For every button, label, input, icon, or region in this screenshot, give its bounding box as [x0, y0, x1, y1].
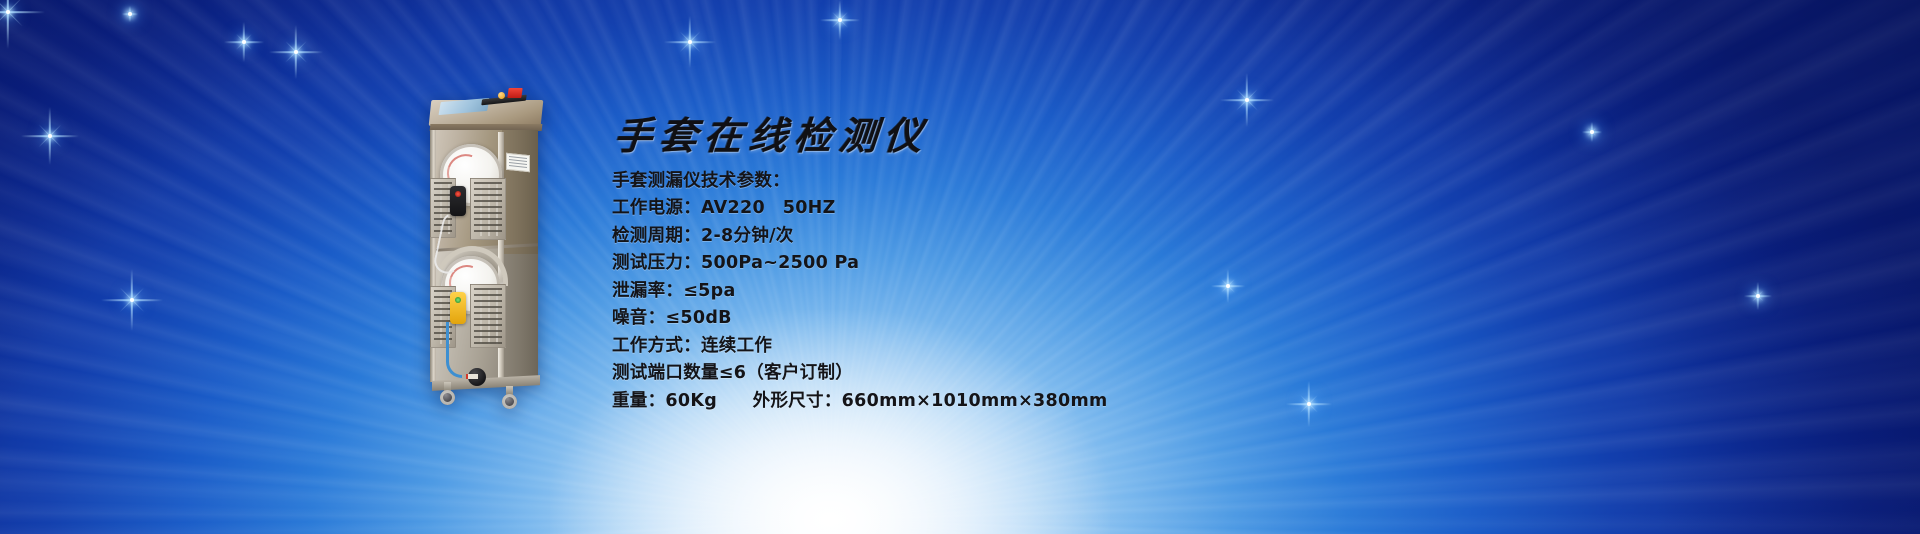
spec-item-work-mode: 工作方式：连续工作 [612, 333, 1232, 361]
machine-knob-tag [466, 374, 478, 379]
spec-item-ports: 测试端口数量≤6（客户订制） [612, 360, 1232, 388]
machine-lower-side [502, 254, 538, 380]
machine-blue-cable [446, 322, 462, 378]
spec-heading: 手套测漏仪技术参数： [612, 168, 1232, 196]
machine-id-label [506, 153, 530, 173]
handle-indicator-light [455, 297, 461, 303]
banner-text-block: 手套在线检测仪 手套测漏仪技术参数： 工作电源：AV220 50HZ 检测周期：… [612, 118, 1232, 415]
product-image [424, 86, 556, 400]
machine-vent-panel [470, 178, 506, 240]
machine-red-button [507, 88, 522, 98]
machine-illustration [424, 86, 556, 400]
spec-list: 手套测漏仪技术参数： 工作电源：AV220 50HZ 检测周期：2-8分钟/次 … [612, 168, 1232, 416]
handle-indicator-light [455, 191, 461, 197]
spec-item-cycle: 检测周期：2-8分钟/次 [612, 223, 1232, 251]
spec-item-weight-dim: 重量：60Kg 外形尺寸：660mm×1010mm×380mm [612, 388, 1232, 416]
page-title: 手套在线检测仪 [610, 118, 1233, 158]
machine-vent-panel [470, 284, 506, 348]
spec-item-noise: 噪音：≤50dB [612, 305, 1232, 333]
spec-item-pressure: 测试压力：500Pa~2500 Pa [612, 250, 1232, 278]
machine-upper-side [502, 130, 538, 254]
machine-knob [468, 368, 486, 386]
spec-item-power: 工作电源：AV220 50HZ [612, 195, 1232, 223]
spec-item-leak-rate: 泄漏率：≤5pa [612, 278, 1232, 306]
product-banner: 手套在线检测仪 手套测漏仪技术参数： 工作电源：AV220 50HZ 检测周期：… [0, 0, 1920, 534]
machine-amber-indicator [498, 92, 505, 99]
machine-yellow-handle [450, 292, 466, 324]
